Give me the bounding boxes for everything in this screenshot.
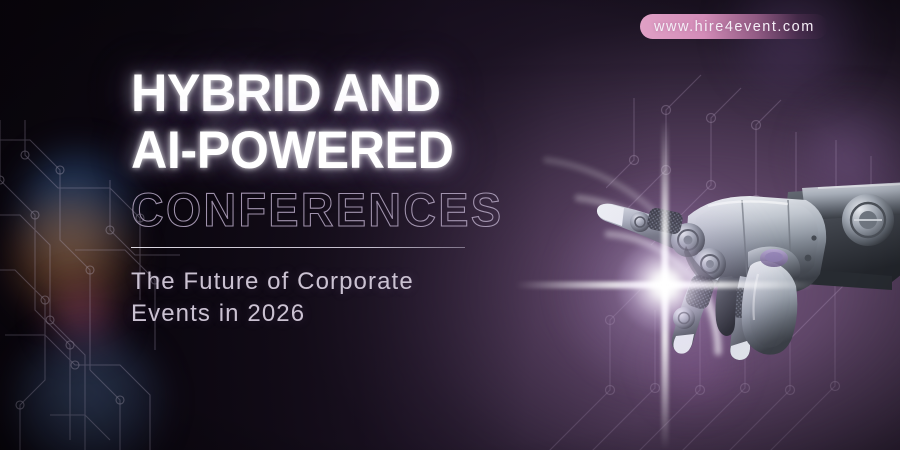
subtitle-line-1: The Future of Corporate [131,266,551,298]
subtitle-line-2: Events in 2026 [131,298,551,330]
headline-line-2: AI-POWERED [131,123,530,180]
website-url-text: www.hire4event.com [654,19,815,35]
outline-heading: CONFERENCES [131,185,534,234]
headline-block: HYBRID AND AI-POWERED CONFERENCES The Fu… [131,66,551,330]
website-url-badge[interactable]: www.hire4event.com [640,14,828,39]
page-title: HYBRID AND AI-POWERED [131,66,530,179]
title-divider [131,247,465,248]
promo-banner: HYBRID AND AI-POWERED CONFERENCES The Fu… [0,0,900,450]
subtitle: The Future of Corporate Events in 2026 [131,266,551,330]
headline-line-1: HYBRID AND [131,66,530,123]
